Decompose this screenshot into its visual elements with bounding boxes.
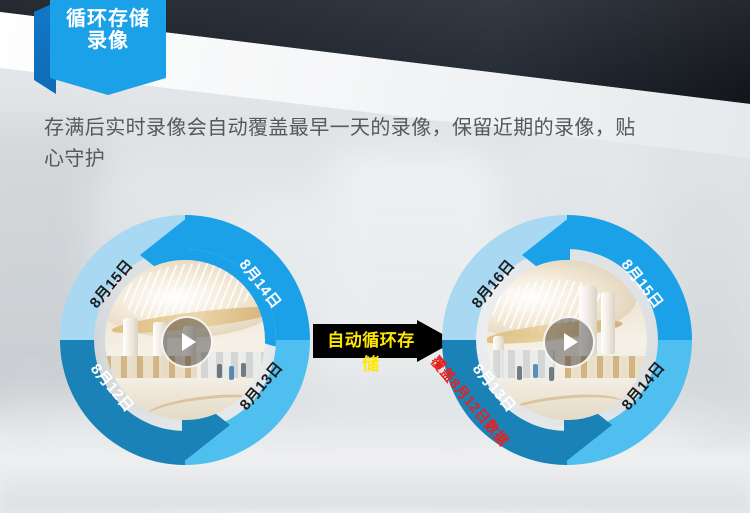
cycle-diagram-before: 8月15日 8月14日 8月13日 8月12日 xyxy=(60,215,310,465)
play-icon[interactable] xyxy=(543,316,595,368)
arrow-label: 自动循环存储 xyxy=(323,329,419,377)
promo-slide: 循环存储 录像 存满后实时录像会自动覆盖最早一天的录像，保留近期的录像，贴心守护 xyxy=(0,0,750,513)
badge-body: 循环存储 录像 xyxy=(50,0,166,95)
badge-line-1: 循环存储 xyxy=(50,0,166,30)
cycle-diagram-after: 8月16日 8月15日 8月14日 8月13日 覆盖8月12日数据 xyxy=(442,215,692,465)
auto-cycle-arrow: 自动循环存储 xyxy=(313,320,455,362)
description-text: 存满后实时录像会自动覆盖最早一天的录像，保留近期的录像，贴心守护 xyxy=(44,113,644,175)
section-badge: 循环存储 录像 xyxy=(34,0,184,100)
badge-line-2: 录像 xyxy=(50,30,166,52)
play-icon[interactable] xyxy=(161,316,213,368)
